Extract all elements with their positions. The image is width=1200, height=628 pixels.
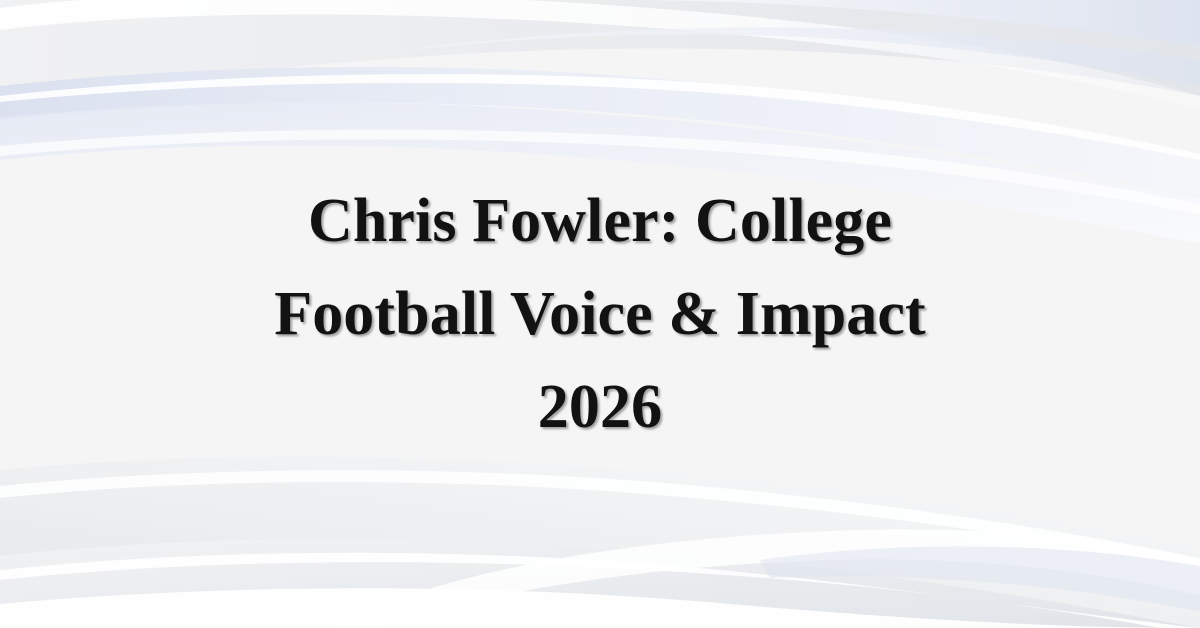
social-card: Chris Fowler: College Football Voice & I… xyxy=(0,0,1200,628)
title-line-2: Football Voice & Impact xyxy=(274,268,926,361)
headline-block: Chris Fowler: College Football Voice & I… xyxy=(0,0,1200,628)
title-line-3: 2026 xyxy=(538,361,662,454)
title-line-1: Chris Fowler: College xyxy=(308,175,892,268)
